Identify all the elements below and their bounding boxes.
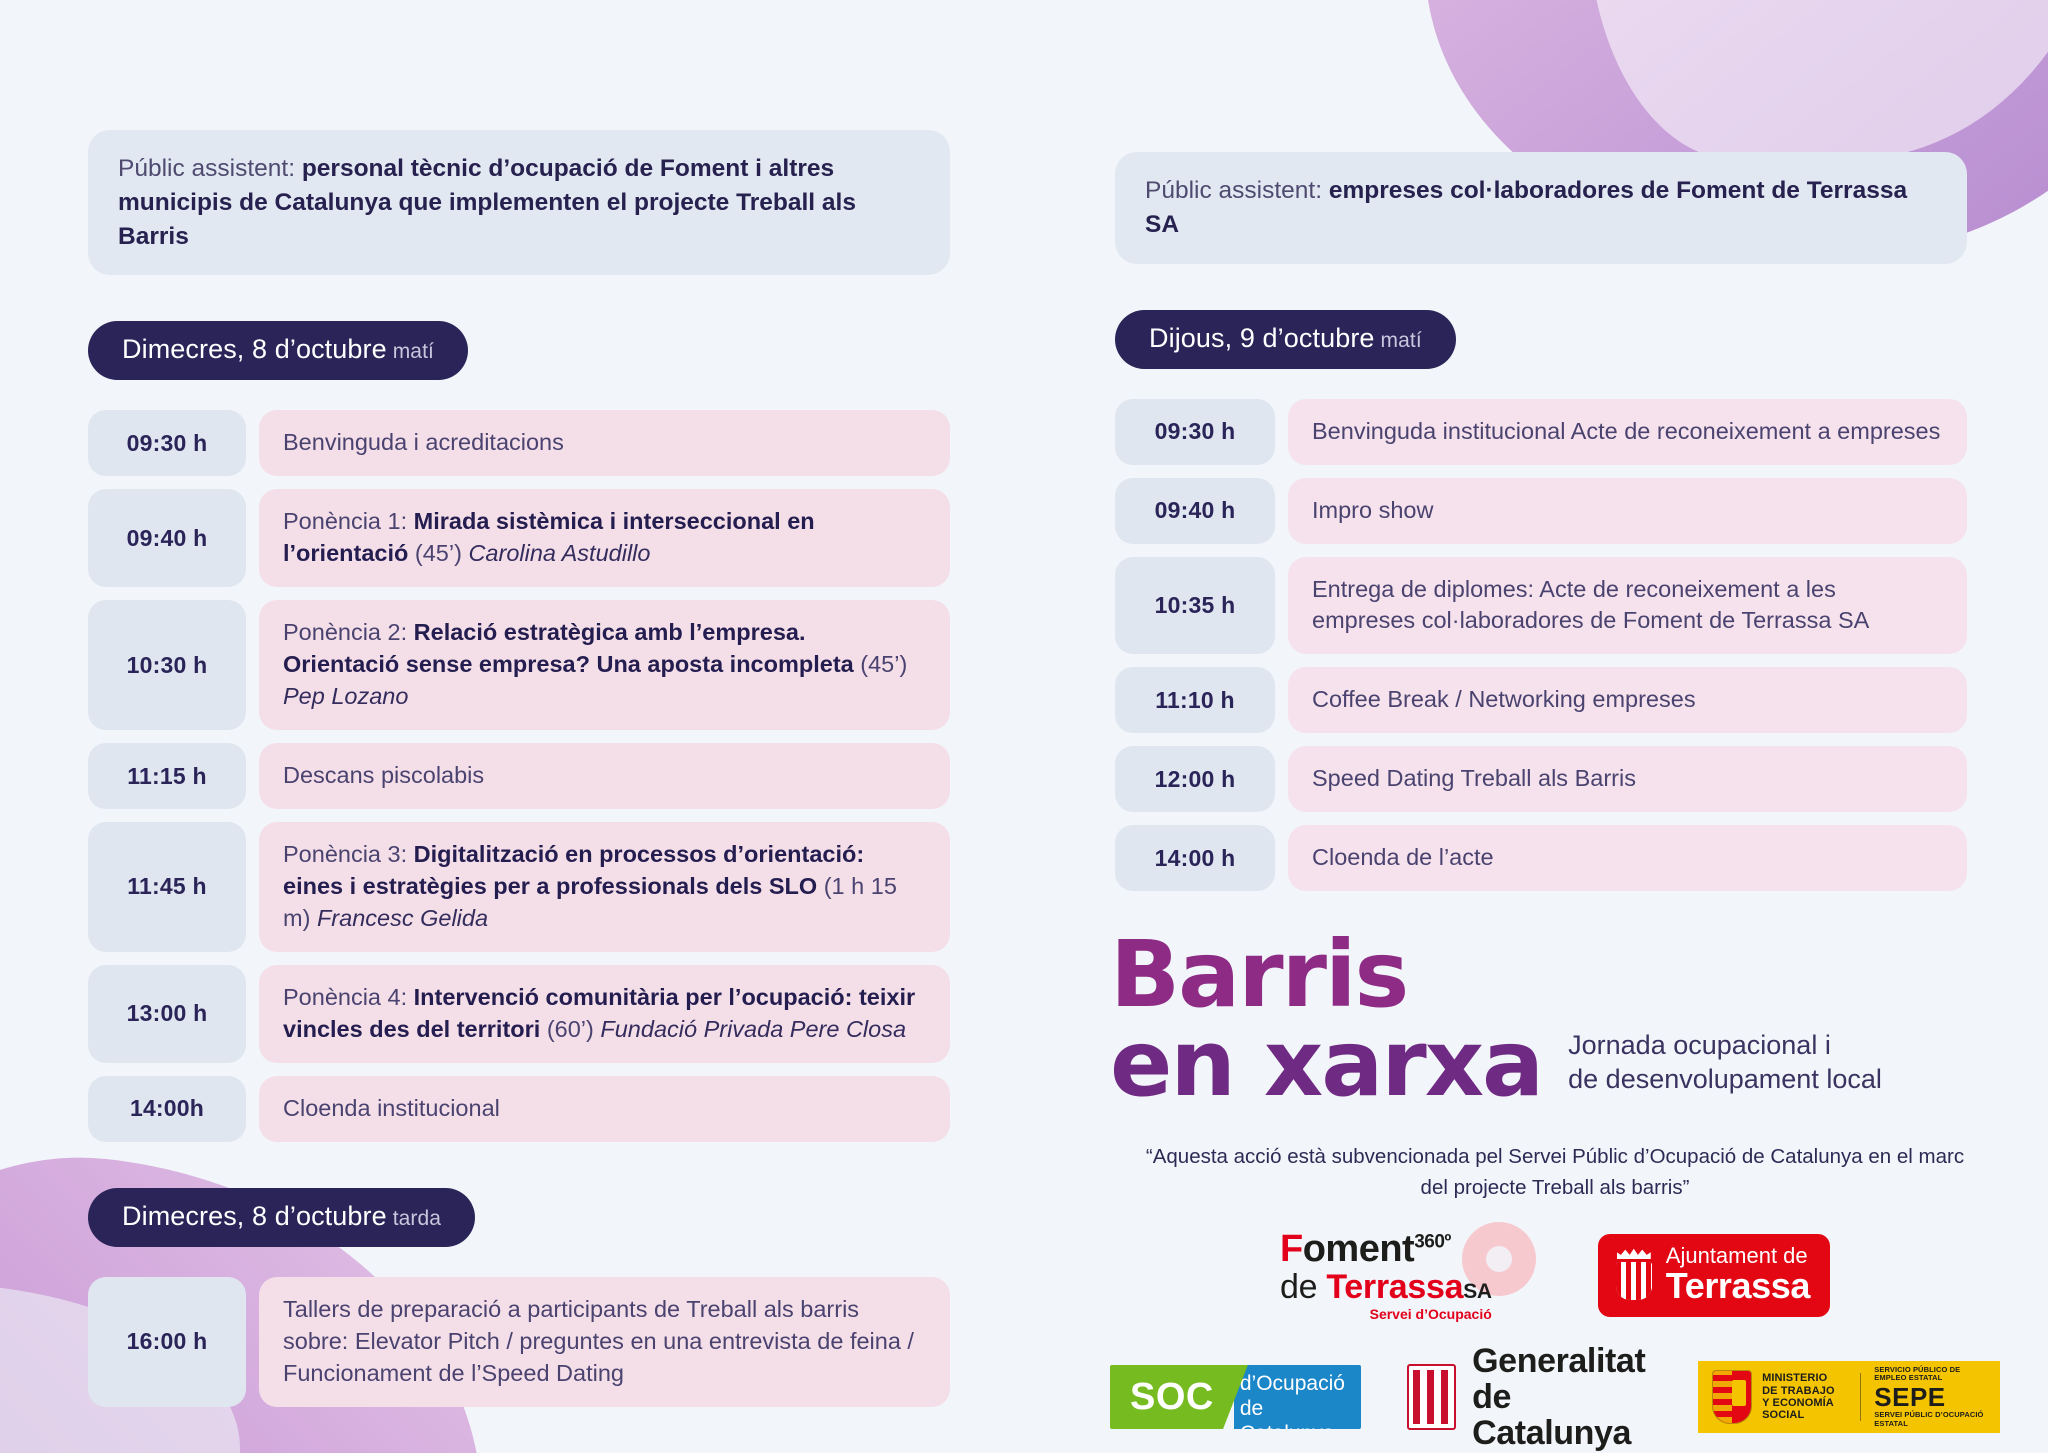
session-text-segment: Descans piscolabis: [283, 762, 484, 788]
brand-block: Barris en xarxa Jornada ocupacional i de…: [1110, 930, 2000, 1451]
session-text-segment: Benvinguda institucional Acte de reconei…: [1312, 418, 1940, 444]
session-time: 13:00 h: [88, 965, 246, 1063]
session-description-text: Coffee Break / Networking empreses: [1312, 684, 1943, 716]
sepe-top-line: SERVICIO PÚBLICO DE EMPLEO ESTATAL: [1874, 1366, 1986, 1383]
session-description: Speed Dating Treball als Barris: [1288, 746, 1967, 812]
session-description: Descans piscolabis: [259, 743, 950, 809]
schedule-row: 10:30 hPonència 2: Relació estratègica a…: [88, 600, 950, 730]
ajuntament-wordmark: Ajuntament de Terrassa: [1666, 1244, 1810, 1305]
session-text-segment: Pep Lozano: [283, 683, 408, 709]
session-time: 14:00 h: [1115, 825, 1275, 891]
brand-title-row: Barris en xarxa Jornada ocupacional i de…: [1110, 930, 2000, 1108]
schedule-row: 09:40 hImpro show: [1115, 478, 1967, 544]
spacer: [88, 1247, 950, 1277]
session-text-segment: Benvinguda i acreditacions: [283, 429, 564, 455]
brand-tagline: Jornada ocupacional i de desenvolupament…: [1568, 1028, 1882, 1108]
schedule-row: 14:00 hCloenda de l’acte: [1115, 825, 1967, 891]
schedule-row: 14:00hCloenda institucional: [88, 1076, 950, 1142]
session-text-segment: Ponència 3:: [283, 841, 414, 867]
session-time: 09:30 h: [1115, 399, 1275, 465]
session-description: Entrega de diplomes: Acte de reconeixeme…: [1288, 557, 1967, 655]
schedule-list: 09:30 hBenvinguda institucional Acte de …: [1115, 399, 1967, 892]
sepe-bottom-line: SERVEI PÚBLIC D’OCUPACIÓ ESTATAL: [1874, 1411, 1986, 1428]
foment-de-terrassa-logo: Foment360º de TerrassaSA Servei d’Ocupac…: [1280, 1230, 1538, 1321]
schedule-row: 09:40 hPonència 1: Mirada sistèmica i in…: [88, 489, 950, 587]
left-column: Públic assistent: personal tècnic d’ocup…: [88, 130, 950, 1453]
session-description: Benvinguda i acreditacions: [259, 410, 950, 476]
generalitat-line1: Generalitat: [1472, 1343, 1652, 1379]
audience-banner-right: Públic assistent: empreses col·laborador…: [1115, 152, 1967, 264]
schedule-row: 09:30 hBenvinguda i acreditacions: [88, 410, 950, 476]
foment-de: de: [1280, 1268, 1326, 1306]
brand-title-line2: en xarxa: [1110, 1019, 1542, 1108]
soc-line2: de Catalunya: [1240, 1397, 1345, 1429]
day-part-label: matí: [393, 340, 434, 363]
session-text-segment: Cloenda institucional: [283, 1095, 500, 1121]
schedule-row: 11:45 hPonència 3: Digitalització en pro…: [88, 822, 950, 952]
session-description-text: Impro show: [1312, 495, 1943, 527]
day-label: Dimecres, 8 d’octubre: [122, 1201, 387, 1231]
schedule-row: 10:35 hEntrega de diplomes: Acte de reco…: [1115, 557, 1967, 655]
session-description-text: Tallers de preparació a participants de …: [283, 1294, 926, 1390]
session-time: 10:30 h: [88, 600, 246, 730]
generalitat-wordmark: Generalitat de Catalunya: [1472, 1343, 1652, 1451]
spacer: [88, 275, 950, 321]
session-description: Cloenda institucional: [259, 1076, 950, 1142]
foment-sa: SA: [1463, 1280, 1492, 1303]
schedule-list: 09:30 hBenvinguda i acreditacions09:40 h…: [88, 410, 950, 1141]
session-time: 16:00 h: [88, 1277, 246, 1407]
schedule-row: 12:00 hSpeed Dating Treball als Barris: [1115, 746, 1967, 812]
soc-line1: Servei d’Ocupació: [1240, 1365, 1345, 1397]
spacer: [88, 1407, 950, 1453]
spacer: [1115, 264, 1967, 310]
schedule-row: 11:10 hCoffee Break / Networking emprese…: [1115, 667, 1967, 733]
soc-acronym: SOC: [1110, 1365, 1248, 1429]
session-description-text: Descans piscolabis: [283, 760, 926, 792]
session-text-segment: (60’): [540, 1016, 600, 1042]
brand-tagline-line2: de desenvolupament local: [1568, 1062, 1882, 1096]
session-text-segment: Ponència 4:: [283, 984, 414, 1010]
crown-icon: [1617, 1247, 1651, 1259]
session-text-segment: Cloenda de l’acte: [1312, 844, 1494, 870]
session-text-segment: Ponència 1:: [283, 508, 414, 534]
soc-logo: SOC Servei d’Ocupació de Catalunya: [1110, 1365, 1361, 1429]
poster-page: Públic assistent: personal tècnic d’ocup…: [0, 0, 2048, 1453]
terrassa-shield-icon: [1614, 1247, 1654, 1301]
brand-title: Barris en xarxa: [1110, 930, 1542, 1108]
logo-divider: [1860, 1373, 1861, 1421]
session-description-text: Ponència 3: Digitalització en processos …: [283, 839, 926, 935]
ministerio-wordmark: MINISTERIO DE TRABAJO Y ECONOMÍA SOCIAL: [1762, 1372, 1845, 1421]
logos-row-primary: Foment360º de TerrassaSA Servei d’Ocupac…: [1110, 1230, 2000, 1321]
session-description-text: Benvinguda institucional Acte de reconei…: [1312, 416, 1943, 448]
foment-word-rest: oment: [1303, 1228, 1415, 1270]
schedule-row: 11:15 hDescans piscolabis: [88, 743, 950, 809]
session-text-segment: Coffee Break / Networking empreses: [1312, 686, 1696, 712]
ajuntament-line1: Ajuntament de: [1666, 1244, 1810, 1267]
day-header-pill: Dijous, 9 d’octubrematí: [1115, 310, 1456, 369]
session-description: Ponència 4: Intervenció comunitària per …: [259, 965, 950, 1063]
ministerio-line2: DE TRABAJO: [1762, 1385, 1845, 1397]
soc-wordmark: Servei d’Ocupació de Catalunya: [1234, 1365, 1361, 1429]
session-description-text: Entrega de diplomes: Acte de reconeixeme…: [1312, 574, 1943, 638]
brand-tagline-line1: Jornada ocupacional i: [1568, 1028, 1882, 1062]
session-time: 09:40 h: [1115, 478, 1275, 544]
ministerio-line1: MINISTERIO: [1762, 1372, 1845, 1384]
foment-letter-f: F: [1280, 1228, 1303, 1270]
session-description-text: Ponència 2: Relació estratègica amb l’em…: [283, 617, 926, 713]
schedule-row: 09:30 hBenvinguda institucional Acte de …: [1115, 399, 1967, 465]
session-text-segment: Speed Dating Treball als Barris: [1312, 765, 1636, 791]
session-description: Tallers de preparació a participants de …: [259, 1277, 950, 1407]
schedule-list: 16:00 hTallers de preparació a participa…: [88, 1277, 950, 1407]
session-text-segment: Ponència 2:: [283, 619, 414, 645]
session-time: 14:00h: [88, 1076, 246, 1142]
schedule-row: 16:00 hTallers de preparació a participa…: [88, 1277, 950, 1407]
session-time: 09:40 h: [88, 489, 246, 587]
foment-subtitle: Servei d’Ocupació: [1280, 1307, 1492, 1321]
foment-degree-badge: 360º: [1414, 1231, 1451, 1252]
session-description: Ponència 1: Mirada sistèmica i intersecc…: [259, 489, 950, 587]
session-time: 10:35 h: [1115, 557, 1275, 655]
funding-note: “Aquesta acció està subvencionada pel Se…: [1110, 1142, 2000, 1204]
spacer: [88, 1142, 950, 1188]
session-description-text: Ponència 1: Mirada sistèmica i intersecc…: [283, 506, 926, 570]
session-time: 12:00 h: [1115, 746, 1275, 812]
session-time: 11:10 h: [1115, 667, 1275, 733]
ajuntament-de-terrassa-logo: Ajuntament de Terrassa: [1598, 1234, 1830, 1317]
session-text-segment: (45’): [854, 651, 908, 677]
session-description-text: Cloenda de l’acte: [1312, 842, 1943, 874]
day-part-label: matí: [1381, 329, 1422, 352]
session-description: Ponència 3: Digitalització en processos …: [259, 822, 950, 952]
session-text-segment: Fundació Privada Pere Closa: [600, 1016, 906, 1042]
right-schedule-blocks: Dijous, 9 d’octubrematí09:30 hBenvinguda…: [1115, 310, 1967, 892]
session-description-text: Cloenda institucional: [283, 1093, 926, 1125]
session-description: Ponència 2: Relació estratègica amb l’em…: [259, 600, 950, 730]
session-description: Cloenda de l’acte: [1288, 825, 1967, 891]
day-header-pill: Dimecres, 8 d’octubretarda: [88, 1188, 475, 1247]
ministerio-line3: Y ECONOMÍA SOCIAL: [1762, 1397, 1845, 1422]
audience-lead-right: Públic assistent:: [1145, 177, 1322, 204]
day-header-pill: Dimecres, 8 d’octubrematí: [88, 321, 468, 380]
generalitat-de-catalunya-logo: Generalitat de Catalunya: [1407, 1343, 1652, 1451]
day-label: Dijous, 9 d’octubre: [1149, 323, 1375, 353]
session-time: 09:30 h: [88, 410, 246, 476]
generalitat-line2: de Catalunya: [1472, 1379, 1652, 1451]
audience-lead-left: Públic assistent:: [118, 155, 295, 182]
audience-banner-left: Públic assistent: personal tècnic d’ocup…: [88, 130, 950, 275]
session-text-segment: Impro show: [1312, 497, 1433, 523]
session-text-segment: Entrega de diplomes: Acte de reconeixeme…: [1312, 576, 1869, 634]
schedule-row: 13:00 hPonència 4: Intervenció comunitàr…: [88, 965, 950, 1063]
shield-body-icon: [1616, 1262, 1652, 1300]
session-description-text: Benvinguda i acreditacions: [283, 427, 926, 459]
foment-terrassa: Terrassa: [1326, 1268, 1463, 1306]
session-description-text: Speed Dating Treball als Barris: [1312, 763, 1943, 795]
ministerio-sepe-logo: MINISTERIO DE TRABAJO Y ECONOMÍA SOCIAL …: [1698, 1361, 2000, 1433]
session-time: 11:15 h: [88, 743, 246, 809]
ajuntament-line2: Terrassa: [1666, 1267, 1810, 1305]
foment-wordmark-line1: Foment360º: [1280, 1230, 1492, 1268]
sepe-wordmark: SERVICIO PÚBLICO DE EMPLEO ESTATAL SEPE …: [1874, 1366, 1986, 1428]
session-text-segment: Tallers de preparació a participants de …: [283, 1296, 914, 1386]
session-description: Benvinguda institucional Acte de reconei…: [1288, 399, 1967, 465]
senyera-shield-icon: [1407, 1364, 1456, 1430]
logos-row-secondary: SOC Servei d’Ocupació de Catalunya Gener…: [1110, 1343, 2000, 1451]
session-time: 11:45 h: [88, 822, 246, 952]
foment-wordmark-line2: de TerrassaSA: [1280, 1270, 1492, 1304]
sepe-acronym: SEPE: [1874, 1383, 1986, 1412]
spacer: [88, 380, 950, 410]
session-text-segment: (45’): [408, 540, 468, 566]
session-description: Impro show: [1288, 478, 1967, 544]
left-schedule-blocks: Dimecres, 8 d’octubrematí09:30 hBenvingu…: [88, 321, 950, 1453]
session-description: Coffee Break / Networking empreses: [1288, 667, 1967, 733]
blob-top-right-highlight: [1588, 0, 2048, 160]
session-text-segment: Carolina Astudillo: [468, 540, 650, 566]
session-text-segment: Francesc Gelida: [317, 905, 488, 931]
day-part-label: tarda: [393, 1207, 441, 1230]
day-label: Dimecres, 8 d’octubre: [122, 334, 387, 364]
session-description-text: Ponència 4: Intervenció comunitària per …: [283, 982, 926, 1046]
spain-coat-of-arms-icon: [1712, 1370, 1752, 1424]
right-column: Públic assistent: empreses col·laborador…: [1115, 152, 1967, 891]
spacer: [1115, 369, 1967, 399]
